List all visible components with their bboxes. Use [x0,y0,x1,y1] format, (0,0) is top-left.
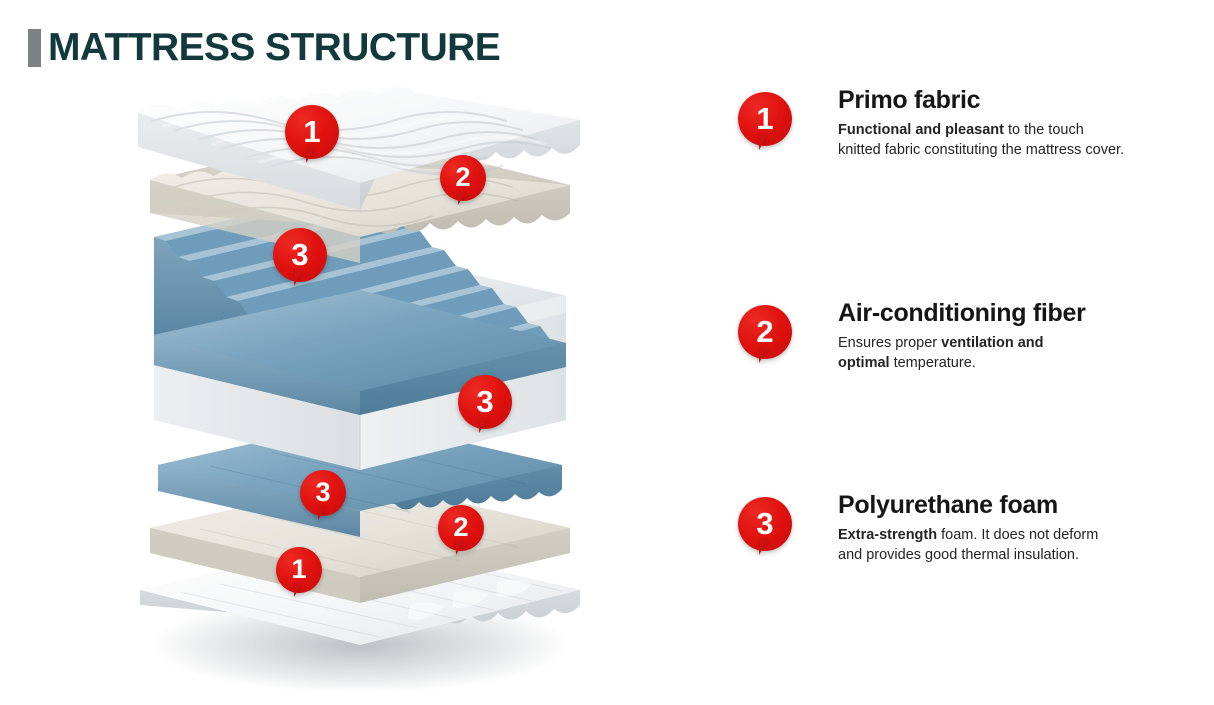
legend-desc-1: Functional and pleasant to the touch kni… [838,120,1188,161]
page-title-text: MATTRESS STRUCTURE [48,28,500,67]
legend-text-1: Primo fabric Functional and pleasant to … [838,86,1188,161]
legend-desc-line2: knitted fabric constituting the mattress… [838,142,1124,158]
legend-desc-pre: Ensures proper [838,335,941,351]
marker-number: 3 [300,470,346,516]
diagram-marker-3-core[interactable]: 3 [458,375,512,429]
marker-number: 1 [276,547,322,593]
legend-desc-emphasis-2: optimal [838,355,890,371]
legend-title-3: Polyurethane foam [838,491,1188,520]
marker-number: 3 [458,375,512,429]
diagram-marker-2-top[interactable]: 2 [440,155,486,201]
marker-number: 2 [440,155,486,201]
diagram-marker-1-bottom[interactable]: 1 [276,547,322,593]
legend-desc-line2: and provides good thermal insulation. [838,547,1079,563]
legend-marker-1[interactable]: 1 [738,92,792,146]
layer-quilted-fabric-top [110,85,610,685]
title-accent-bar [28,29,41,67]
legend-item-1[interactable]: 1 Primo fabric Functional and pleasant t… [730,80,1190,200]
legend-desc-emphasis: ventilation and [941,335,1043,351]
legend-title-1: Primo fabric [838,86,1188,115]
diagram-marker-3-bottom[interactable]: 3 [300,470,346,516]
legend-desc-3: Extra-strength foam. It does not deform … [838,525,1188,566]
diagram-marker-1-top[interactable]: 1 [285,105,339,159]
legend-text-3: Polyurethane foam Extra-strength foam. I… [838,491,1188,566]
legend-marker-2[interactable]: 2 [738,305,792,359]
legend-desc-rest: foam. It does not deform [937,527,1098,543]
marker-number: 2 [438,505,484,551]
page-title: MATTRESS STRUCTURE [28,28,500,67]
marker-number: 3 [273,228,327,282]
legend-item-3[interactable]: 3 Polyurethane foam Extra-strength foam.… [730,485,1190,605]
legend-item-2[interactable]: 2 Air-conditioning fiber Ensures proper … [730,293,1190,413]
marker-number: 3 [738,497,792,551]
marker-number: 2 [738,305,792,359]
legend-desc-emphasis: Extra-strength [838,527,937,543]
legend-desc-emphasis: Functional and pleasant [838,122,1004,138]
legend-desc-2: Ensures proper ventilation and optimal t… [838,333,1188,374]
diagram-marker-2-bottom[interactable]: 2 [438,505,484,551]
legend-desc-rest: to the touch [1004,122,1084,138]
marker-number: 1 [285,105,339,159]
legend-marker-3[interactable]: 3 [738,497,792,551]
legend-text-2: Air-conditioning fiber Ensures proper ve… [838,299,1188,374]
legend-title-2: Air-conditioning fiber [838,299,1188,328]
mattress-exploded-diagram: 1 2 3 3 3 2 1 [110,85,610,685]
diagram-marker-3-top[interactable]: 3 [273,228,327,282]
marker-number: 1 [738,92,792,146]
legend-desc-rest: temperature. [890,355,976,371]
